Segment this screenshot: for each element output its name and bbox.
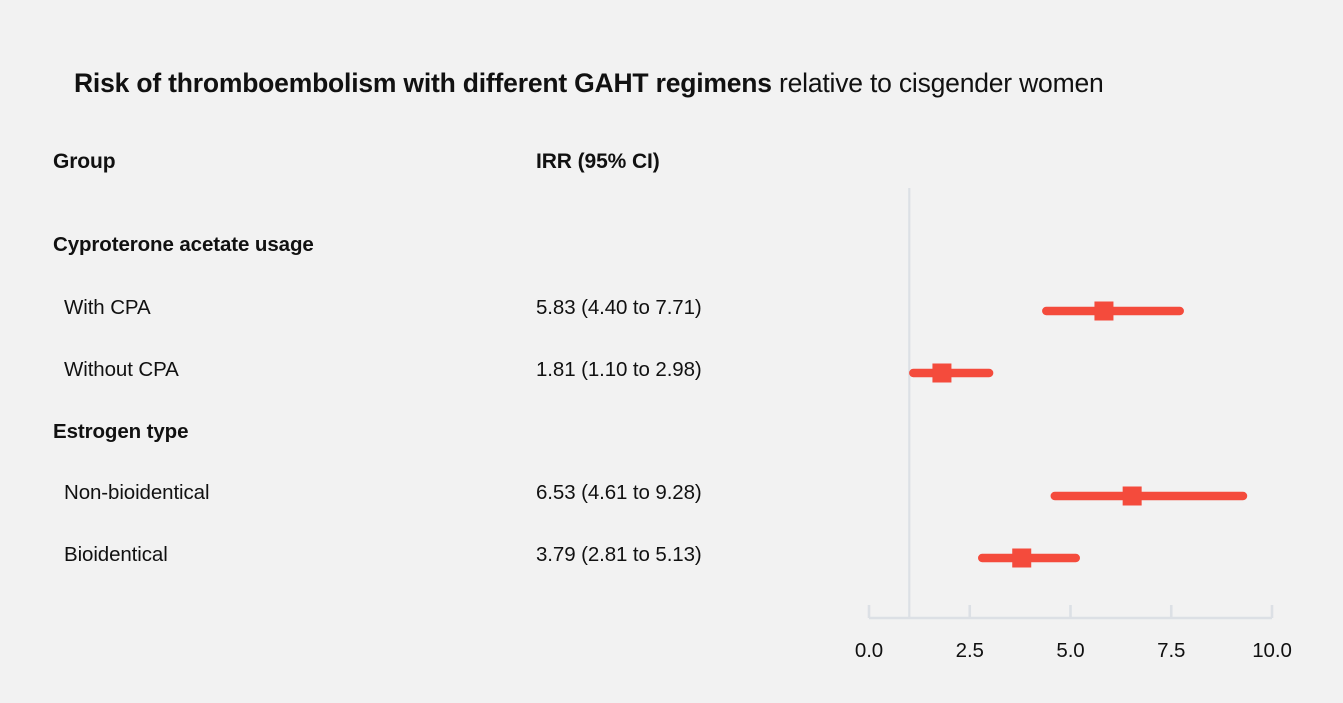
row-label: Bioidentical bbox=[64, 543, 168, 567]
forest-row-marker bbox=[913, 364, 989, 383]
figure-title-light: relative to cisgender women bbox=[772, 68, 1104, 98]
x-axis-tick-label: 7.5 bbox=[1157, 639, 1185, 663]
figure-title: Risk of thromboembolism with different G… bbox=[74, 66, 1104, 100]
point-estimate-marker bbox=[1094, 302, 1113, 321]
row-effect-value: 6.53 (4.61 to 9.28) bbox=[536, 481, 702, 505]
x-axis-tick-label: 2.5 bbox=[956, 639, 984, 663]
figure-title-strong: Risk of thromboembolism with different G… bbox=[74, 68, 772, 98]
forest-plot-panel bbox=[0, 0, 1343, 703]
column-header-group: Group bbox=[53, 150, 116, 174]
point-estimate-marker bbox=[932, 364, 951, 383]
row-effect-value: 1.81 (1.10 to 2.98) bbox=[536, 358, 702, 382]
group-heading-label: Estrogen type bbox=[53, 420, 188, 444]
row-effect-value: 5.83 (4.40 to 7.71) bbox=[536, 296, 702, 320]
x-axis-tick-label: 10.0 bbox=[1252, 639, 1292, 663]
row-label: With CPA bbox=[64, 296, 151, 320]
point-estimate-marker bbox=[1012, 549, 1031, 568]
x-axis-tick-label: 0.0 bbox=[855, 639, 883, 663]
row-effect-value: 3.79 (2.81 to 5.13) bbox=[536, 543, 702, 567]
x-axis-tick-label: 5.0 bbox=[1056, 639, 1084, 663]
point-estimate-marker bbox=[1123, 487, 1142, 506]
forest-plot-figure: Risk of thromboembolism with different G… bbox=[0, 0, 1343, 703]
forest-row-marker bbox=[982, 549, 1075, 568]
group-heading-label: Cyproterone acetate usage bbox=[53, 233, 314, 257]
row-label: Without CPA bbox=[64, 358, 179, 382]
forest-row-marker bbox=[1055, 487, 1243, 506]
column-header-effect: IRR (95% CI) bbox=[536, 150, 660, 174]
row-label: Non-bioidentical bbox=[64, 481, 209, 505]
forest-row-marker bbox=[1046, 302, 1179, 321]
